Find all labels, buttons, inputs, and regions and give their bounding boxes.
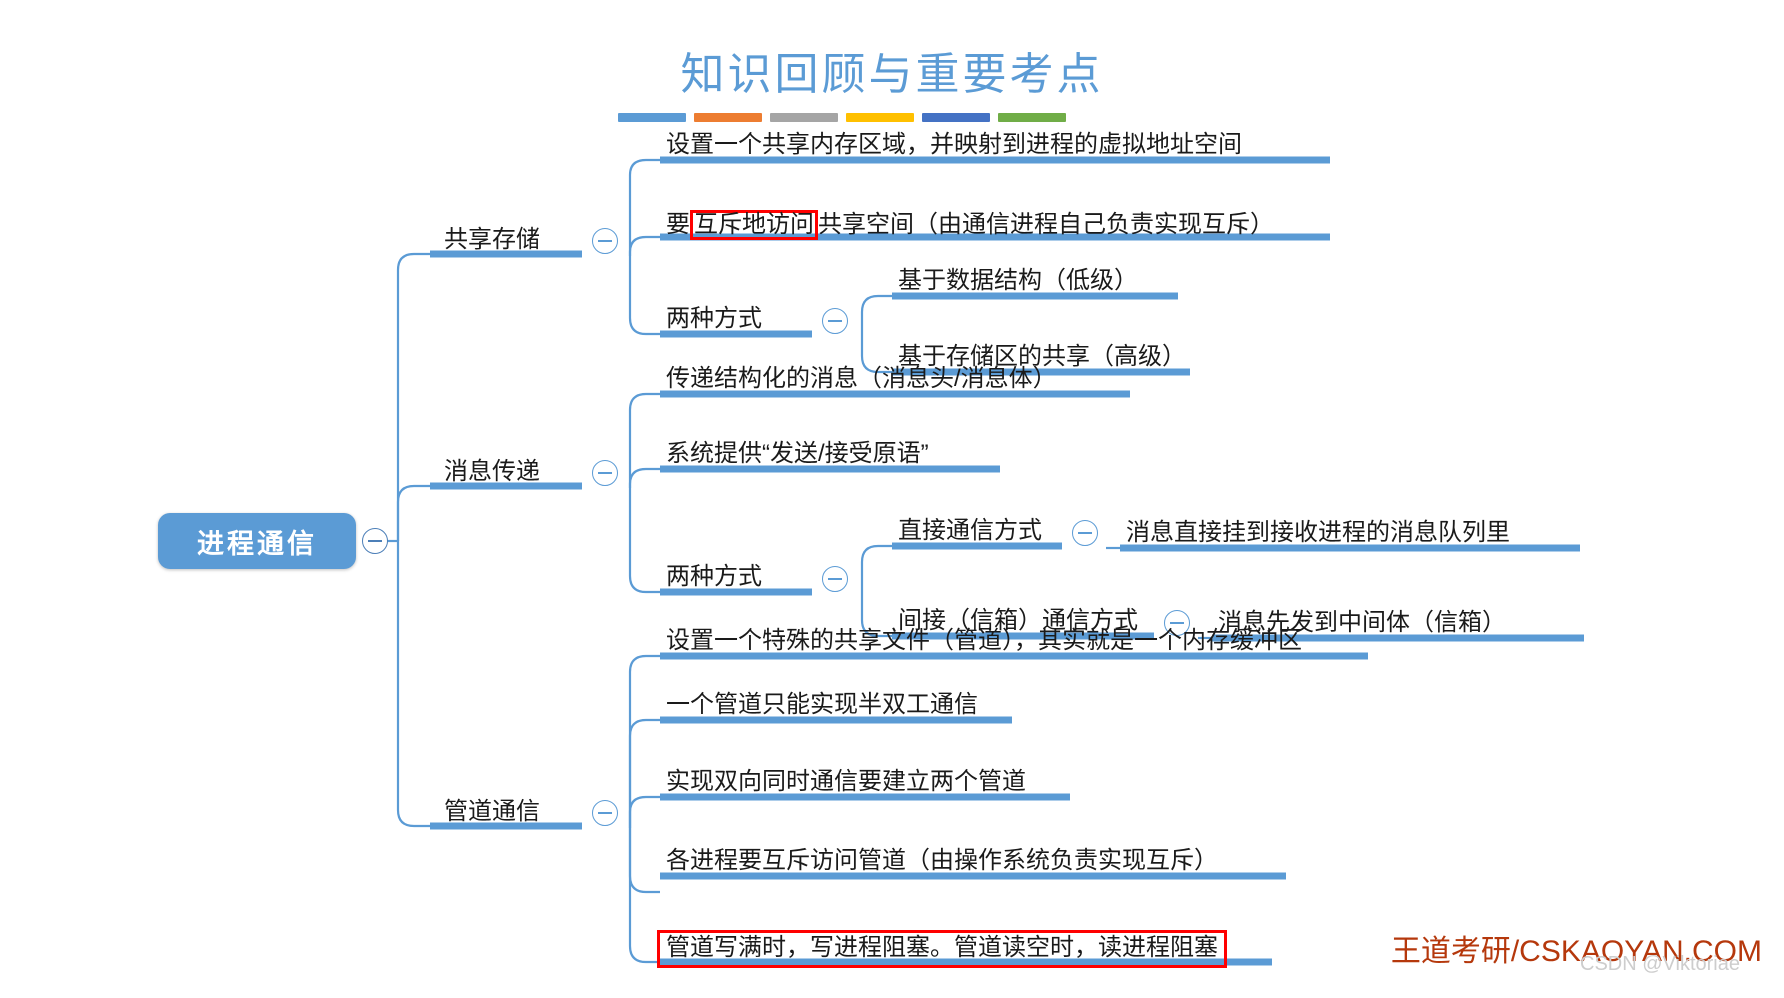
collapse-minus-icon-direct-communication[interactable]: [1072, 520, 1098, 546]
leaf-text-suffix: 共享空间（由通信进程自己负责实现互斥）: [818, 211, 1274, 238]
root-node-label: 进程通信: [197, 522, 317, 561]
leaf-message-to-receiver-queue[interactable]: 消息直接挂到接收进程的消息队列里: [1120, 521, 1516, 552]
csdn-watermark: CSDN @Viktoriae: [1580, 953, 1740, 976]
leaf-two-pipes-duplex[interactable]: 实现双向同时通信要建立两个管道: [660, 770, 1032, 801]
leaf-data-structure-based[interactable]: 基于数据结构（低级）: [892, 269, 1144, 300]
collapse-minus-icon-two-methods-message[interactable]: [822, 566, 848, 592]
highlight-box-mutual-exclusion: 互斥地访问: [690, 210, 818, 240]
branch-label-message-passing[interactable]: 消息传递: [438, 460, 546, 491]
leaf-send-receive-primitives[interactable]: 系统提供“发送/接受原语”: [660, 442, 935, 473]
branch-label-shared-storage[interactable]: 共享存储: [438, 228, 546, 259]
subbranch-label-two-methods-message[interactable]: 两种方式: [660, 565, 768, 596]
subbranch-label-direct-communication[interactable]: 直接通信方式: [892, 519, 1048, 550]
leaf-text-prefix: 要: [666, 211, 690, 238]
collapse-minus-icon-shared-storage[interactable]: [592, 228, 618, 254]
collapse-minus-icon-message-passing[interactable]: [592, 460, 618, 486]
leaf-shared-memory-region[interactable]: 设置一个共享内存区域，并映射到进程的虚拟地址空间: [660, 133, 1248, 164]
collapse-minus-icon-root[interactable]: [362, 528, 388, 554]
collapse-minus-icon-two-methods-storage[interactable]: [822, 308, 848, 334]
leaf-special-shared-file[interactable]: 设置一个特殊的共享文件（管道），其实就是一个内存缓冲区: [660, 629, 1308, 660]
leaf-mutual-exclusion-access[interactable]: 要互斥地访问共享空间（由通信进程自己负责实现互斥）: [660, 210, 1280, 247]
leaf-mutex-pipe-access[interactable]: 各进程要互斥访问管道（由操作系统负责实现互斥）: [660, 849, 1224, 880]
branch-label-pipe-communication[interactable]: 管道通信: [438, 800, 546, 831]
root-node[interactable]: 进程通信: [158, 513, 356, 569]
leaf-half-duplex[interactable]: 一个管道只能实现半双工通信: [660, 693, 984, 724]
subbranch-label-two-methods-storage[interactable]: 两种方式: [660, 307, 768, 338]
mindmap-slide: 知识回顾与重要考点: [0, 0, 1784, 998]
collapse-minus-icon-pipe-communication[interactable]: [592, 800, 618, 826]
leaf-pipe-blocking-highlighted[interactable]: 管道写满时，写进程阻塞。管道读空时，读进程阻塞: [657, 930, 1227, 968]
leaf-structured-message[interactable]: 传递结构化的消息（消息头/消息体）: [660, 367, 1063, 398]
